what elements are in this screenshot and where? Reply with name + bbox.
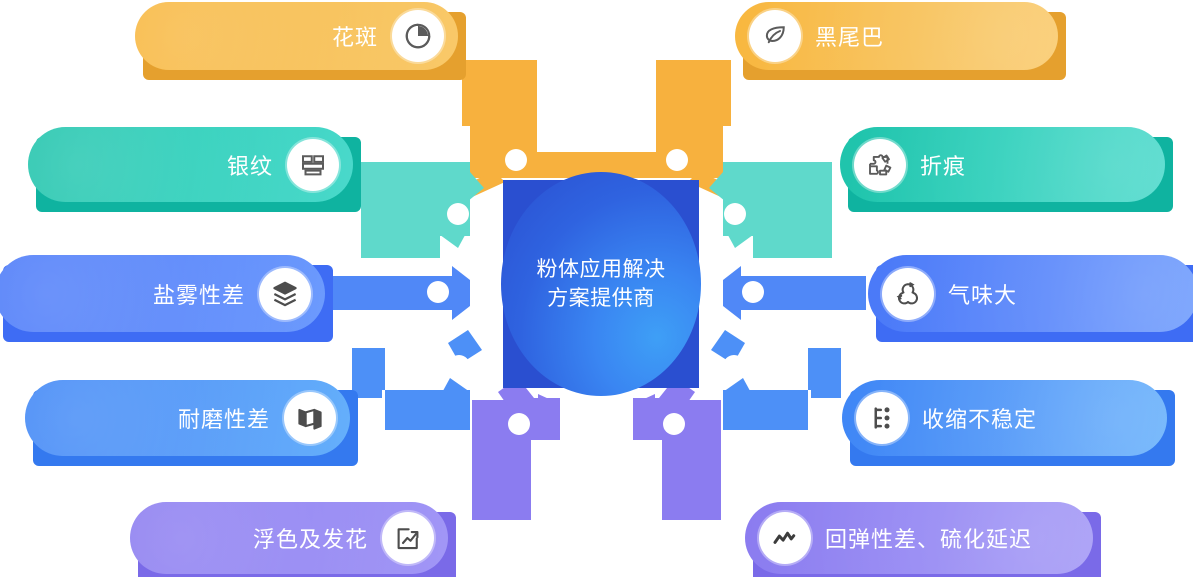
node-label: 浮色及发花 xyxy=(253,522,368,554)
node-body: 折痕 xyxy=(840,127,1165,202)
node-label: 黑尾巴 xyxy=(815,20,884,52)
connector-zhe-hen xyxy=(709,162,832,258)
connector-fu-se-ji-fa-hua xyxy=(472,378,560,520)
layers-icon xyxy=(259,268,311,320)
node-body: 黑尾巴 xyxy=(735,2,1058,70)
node-zhe-hen[interactable]: 折痕 xyxy=(840,127,1165,202)
center-label-line2: 方案提供商 xyxy=(547,284,655,313)
node-label: 收缩不稳定 xyxy=(922,402,1037,434)
node-hei-wei-ba[interactable]: 黑尾巴 xyxy=(735,2,1058,70)
node-nai-mo-xing-cha[interactable]: 耐磨性差 xyxy=(25,380,350,456)
node-body: 耐磨性差 xyxy=(25,380,350,456)
node-body: 银纹 xyxy=(28,127,353,202)
node-label: 花斑 xyxy=(332,20,378,52)
hierarchy-icon xyxy=(856,392,908,444)
connector-qi-wei-da xyxy=(723,266,866,320)
node-body: 盐雾性差 xyxy=(0,255,325,332)
node-body: 浮色及发花 xyxy=(130,502,448,574)
node-yin-wen[interactable]: 银纹 xyxy=(28,127,353,202)
brick-wall-icon xyxy=(287,139,339,191)
node-shou-suo-bu-wen-ding[interactable]: 收缩不稳定 xyxy=(842,380,1167,456)
center-label: 粉体应用解决 方案提供商 xyxy=(503,180,699,388)
node-yan-wu-xing-cha[interactable]: 盐雾性差 xyxy=(0,255,325,332)
line-chart-icon xyxy=(759,512,811,564)
trending-up-icon xyxy=(382,512,434,564)
node-label: 气味大 xyxy=(948,278,1017,310)
connector-yin-wen xyxy=(361,162,484,258)
leaf-icon xyxy=(749,10,801,62)
connector-yan-wu-xing-cha xyxy=(326,266,470,320)
node-label: 回弹性差、硫化延迟 xyxy=(825,522,1032,554)
node-label: 折痕 xyxy=(920,149,966,181)
recycle-icon xyxy=(882,268,934,320)
pie-chart-icon xyxy=(392,10,444,62)
center-node: 粉体应用解决 方案提供商 xyxy=(503,180,699,388)
center-label-line1: 粉体应用解决 xyxy=(537,255,666,284)
node-label: 耐磨性差 xyxy=(178,402,270,434)
node-label: 盐雾性差 xyxy=(153,278,245,310)
node-fu-se-ji-fa-hua[interactable]: 浮色及发花 xyxy=(130,502,448,574)
node-body: 气味大 xyxy=(868,255,1193,332)
node-qi-wei-da[interactable]: 气味大 xyxy=(868,255,1193,332)
node-body: 收缩不稳定 xyxy=(842,380,1167,456)
node-hua-ban[interactable]: 花斑 xyxy=(135,2,458,70)
connector-shou-suo-bu-wen-ding xyxy=(711,330,841,430)
diagram-canvas: 粉体应用解决 方案提供商 花斑 xyxy=(0,0,1193,577)
puzzle-piece-icon xyxy=(854,139,906,191)
node-body: 回弹性差、硫化延迟 xyxy=(745,502,1093,574)
node-hui-tan-xing-cha[interactable]: 回弹性差、硫化延迟 xyxy=(745,502,1093,574)
connector-nai-mo-xing-cha xyxy=(352,330,482,430)
connector-hui-tan-xing-cha xyxy=(633,378,721,520)
node-label: 银纹 xyxy=(227,149,273,181)
node-body: 花斑 xyxy=(135,2,458,70)
map-book-icon xyxy=(284,392,336,444)
